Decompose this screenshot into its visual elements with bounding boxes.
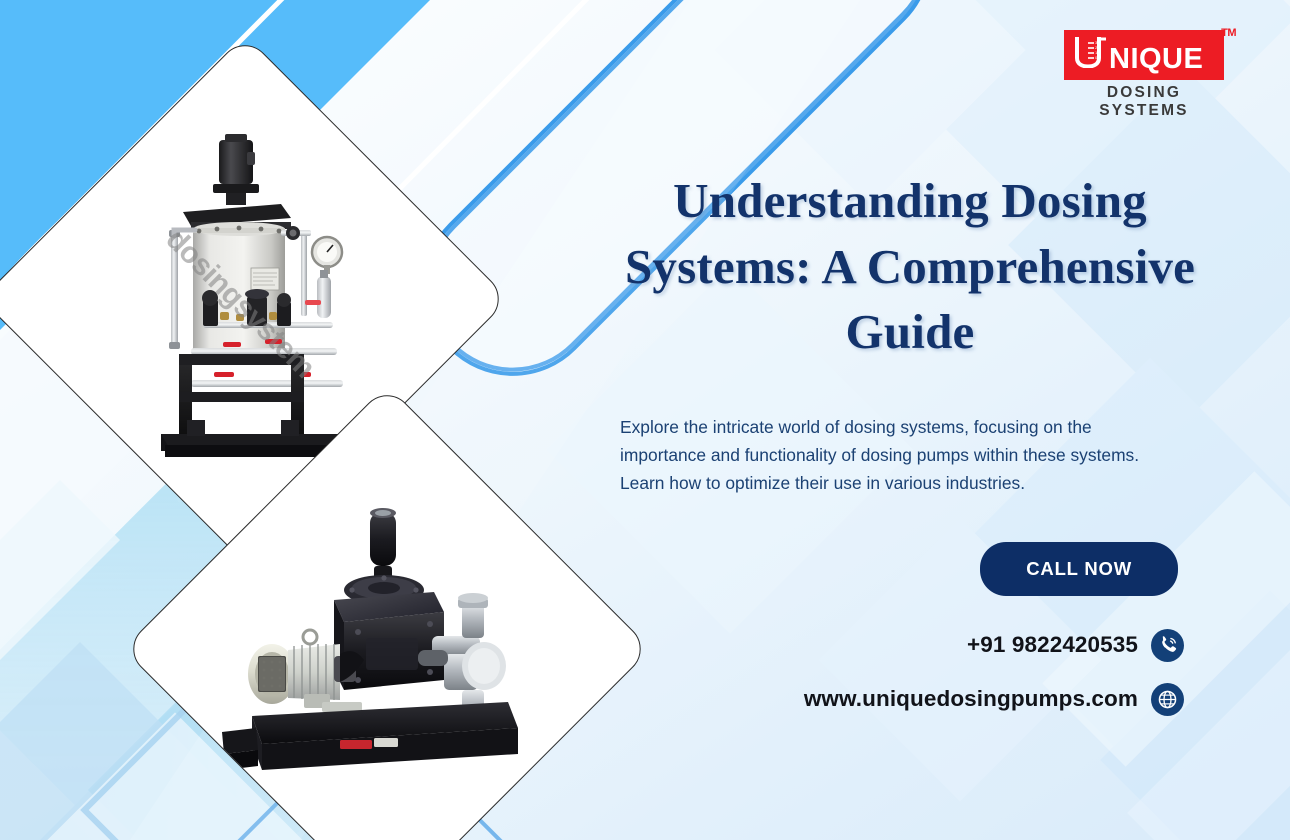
- brand-logo[interactable]: TM 30 20 10 0: [1064, 30, 1224, 120]
- globe-icon[interactable]: [1151, 683, 1184, 716]
- logo-mark: TM 30 20 10 0: [1064, 30, 1224, 80]
- content-column: Understanding Dosing Systems: A Comprehe…: [604, 168, 1216, 716]
- call-now-button[interactable]: CALL NOW: [980, 542, 1178, 596]
- logo-wordmark: NIQUE: [1109, 46, 1203, 73]
- banner-canvas: dosingsystem: [0, 0, 1290, 840]
- beaker-u-icon: 30 20 10 0: [1073, 36, 1107, 73]
- website-url[interactable]: www.uniquedosingpumps.com: [804, 686, 1138, 712]
- cta-row: CALL NOW: [604, 542, 1216, 596]
- page-title: Understanding Dosing Systems: A Comprehe…: [604, 168, 1216, 365]
- website-contact-row[interactable]: www.uniquedosingpumps.com: [604, 683, 1216, 716]
- phone-call-icon[interactable]: [1151, 629, 1184, 662]
- description-text: Explore the intricate world of dosing sy…: [620, 413, 1140, 498]
- phone-contact-row[interactable]: +91 9822420535: [604, 629, 1216, 662]
- phone-number[interactable]: +91 9822420535: [967, 632, 1138, 658]
- logo-tagline: DOSING SYSTEMS: [1064, 84, 1224, 120]
- trademark-symbol: TM: [1221, 27, 1236, 39]
